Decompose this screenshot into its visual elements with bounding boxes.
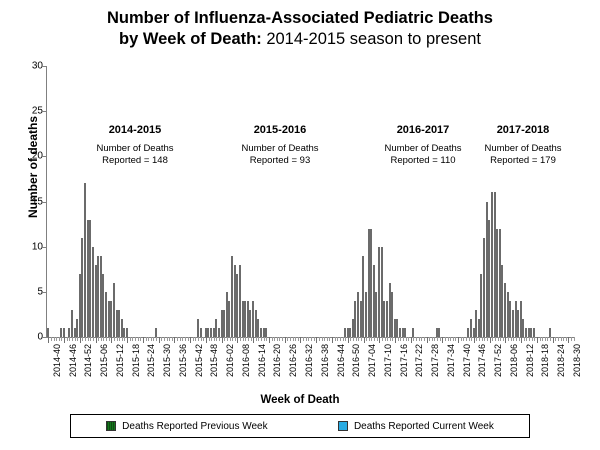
x-axis-major-tick	[364, 337, 365, 343]
x-axis-minor-tick	[156, 337, 157, 341]
x-axis-tick-label: 2017-04	[367, 344, 377, 377]
x-axis-minor-tick	[314, 337, 315, 341]
x-axis-minor-tick	[180, 337, 181, 341]
x-axis-minor-tick	[350, 337, 351, 341]
legend-swatch-previous-week-icon	[106, 421, 116, 431]
x-axis-minor-tick	[469, 337, 470, 341]
x-axis-minor-tick	[266, 337, 267, 341]
x-axis-tick-label: 2018-12	[525, 344, 535, 377]
x-axis-minor-tick	[219, 337, 220, 341]
x-axis-minor-tick	[214, 337, 215, 341]
x-axis-minor-tick	[245, 337, 246, 341]
x-axis-tick-label: 2016-08	[241, 344, 251, 377]
x-axis-minor-tick	[571, 337, 572, 341]
x-axis-minor-tick	[366, 337, 367, 341]
season-deaths-line-1: Number of Deaths	[205, 143, 355, 155]
bar-series	[47, 66, 575, 337]
x-axis-minor-tick	[377, 337, 378, 341]
x-axis-minor-tick	[500, 337, 501, 341]
x-axis-minor-tick	[524, 337, 525, 341]
x-axis-major-tick	[285, 337, 286, 343]
x-axis-minor-tick	[232, 337, 233, 341]
y-axis-title: Number of deaths	[26, 87, 40, 247]
x-axis-minor-tick	[511, 337, 512, 341]
season-annotation-2017-2018: 2017-2018 Number of Deaths Reported = 17…	[448, 124, 598, 167]
x-axis-minor-tick	[161, 337, 162, 341]
x-axis-major-tick	[253, 337, 254, 343]
x-axis-major-tick	[505, 337, 506, 343]
x-axis-minor-tick	[492, 337, 493, 341]
season-deaths-line-2: Reported = 148	[60, 155, 210, 167]
x-axis-major-tick	[537, 337, 538, 343]
x-axis-minor-tick	[106, 337, 107, 341]
x-axis-tick-label: 2018-06	[509, 344, 519, 377]
x-axis-tick-labels: 2014-402014-462014-522015-062015-122015-…	[47, 344, 575, 394]
x-axis-minor-tick	[550, 337, 551, 341]
x-axis-major-tick	[96, 337, 97, 343]
x-axis-minor-tick	[448, 337, 449, 341]
x-axis-minor-tick	[329, 337, 330, 341]
x-axis-minor-tick	[440, 337, 441, 341]
x-axis-major-tick	[80, 337, 81, 343]
x-axis-minor-tick	[203, 337, 204, 341]
x-axis-minor-tick	[140, 337, 141, 341]
x-axis-minor-tick	[261, 337, 262, 341]
x-axis-minor-tick	[566, 337, 567, 341]
x-axis-minor-tick	[413, 337, 414, 341]
x-axis-minor-tick	[471, 337, 472, 341]
x-axis-minor-tick	[193, 337, 194, 341]
x-axis-minor-tick	[85, 337, 86, 341]
x-axis-major-tick	[222, 337, 223, 343]
x-axis-minor-tick	[487, 337, 488, 341]
x-axis-minor-tick	[277, 337, 278, 341]
x-axis-minor-tick	[172, 337, 173, 341]
x-axis-minor-tick	[69, 337, 70, 341]
x-axis-minor-tick	[479, 337, 480, 341]
x-axis-minor-tick	[419, 337, 420, 341]
legend-item-previous-week[interactable]: Deaths Reported Previous Week	[106, 421, 267, 432]
x-axis-minor-tick	[327, 337, 328, 341]
x-axis-major-tick	[553, 337, 554, 343]
x-axis-minor-tick	[308, 337, 309, 341]
x-axis-minor-tick	[563, 337, 564, 341]
x-axis-minor-tick	[151, 337, 152, 341]
x-axis-minor-tick	[293, 337, 294, 341]
x-axis-tick-label: 2015-48	[209, 344, 219, 377]
x-axis-major-tick	[348, 337, 349, 343]
x-axis-minor-tick	[532, 337, 533, 341]
x-axis-tick-label: 2016-44	[336, 344, 346, 377]
influenza-pediatric-deaths-chart: Number of Influenza-Associated Pediatric…	[0, 0, 600, 450]
x-axis-major-tick	[300, 337, 301, 343]
x-axis-minor-tick	[503, 337, 504, 341]
x-axis-minor-tick	[534, 337, 535, 341]
x-axis-minor-tick	[461, 337, 462, 341]
x-axis-minor-tick	[146, 337, 147, 341]
x-axis-minor-tick	[256, 337, 257, 341]
x-axis-major-tick	[395, 337, 396, 343]
chart-title-line-1: Number of Influenza-Associated Pediatric…	[0, 8, 600, 29]
x-axis-minor-tick	[235, 337, 236, 341]
x-axis-tick-label: 2016-14	[257, 344, 267, 377]
x-axis-minor-tick	[353, 337, 354, 341]
x-axis-minor-tick	[434, 337, 435, 341]
x-axis-minor-tick	[185, 337, 186, 341]
x-axis-minor-tick	[450, 337, 451, 341]
x-axis-minor-tick	[72, 337, 73, 341]
x-axis-minor-tick	[177, 337, 178, 341]
x-axis-major-tick	[379, 337, 380, 343]
x-axis-minor-tick	[109, 337, 110, 341]
x-axis-minor-tick	[209, 337, 210, 341]
x-axis-minor-tick	[508, 337, 509, 341]
x-axis-tick-label: 2018-18	[540, 344, 550, 377]
x-axis-minor-tick	[82, 337, 83, 341]
x-axis-tick-label: 2016-50	[351, 344, 361, 377]
x-axis-minor-tick	[495, 337, 496, 341]
x-axis-minor-tick	[98, 337, 99, 341]
x-axis-major-tick	[64, 337, 65, 343]
x-axis-minor-tick	[290, 337, 291, 341]
x-axis-tick-label: 2015-06	[99, 344, 109, 377]
legend-label-previous-week: Deaths Reported Previous Week	[122, 421, 267, 432]
x-axis-minor-tick	[103, 337, 104, 341]
x-axis-tick-label: 2015-18	[131, 344, 141, 377]
x-axis-minor-tick	[453, 337, 454, 341]
legend-swatch-current-week-icon	[338, 421, 348, 431]
legend-label-current-week: Deaths Reported Current Week	[354, 421, 494, 432]
x-axis-minor-tick	[358, 337, 359, 341]
x-axis-minor-tick	[371, 337, 372, 341]
x-axis-minor-tick	[385, 337, 386, 341]
season-annotation-2014-2015: 2014-2015 Number of Deaths Reported = 14…	[60, 124, 210, 167]
x-axis-tick-label: 2017-22	[414, 344, 424, 377]
x-axis-minor-tick	[114, 337, 115, 341]
x-axis-major-tick	[442, 337, 443, 343]
x-axis-minor-tick	[361, 337, 362, 341]
x-axis-minor-tick	[56, 337, 57, 341]
x-axis-minor-tick	[542, 337, 543, 341]
x-axis-minor-tick	[519, 337, 520, 341]
x-axis-major-tick	[458, 337, 459, 343]
x-axis-minor-tick	[119, 337, 120, 341]
x-axis-minor-tick	[526, 337, 527, 341]
x-axis-minor-tick	[240, 337, 241, 341]
x-axis-major-tick	[190, 337, 191, 343]
x-axis-minor-tick	[322, 337, 323, 341]
x-axis-major-tick	[206, 337, 207, 343]
x-axis-minor-tick	[547, 337, 548, 341]
x-axis-tick-label: 2018-24	[556, 344, 566, 377]
x-axis-minor-tick	[282, 337, 283, 341]
x-axis-minor-tick	[437, 337, 438, 341]
x-axis-minor-tick	[59, 337, 60, 341]
season-deaths-line-2: Reported = 93	[205, 155, 355, 167]
x-axis-minor-tick	[167, 337, 168, 341]
chart-title-line-2-bold: by Week of Death:	[119, 30, 262, 48]
x-axis-major-tick	[474, 337, 475, 343]
x-axis-ticks	[47, 337, 575, 343]
x-axis-minor-tick	[343, 337, 344, 341]
chart-title-line-2: by Week of Death: 2014-2015 season to pr…	[0, 29, 600, 50]
x-axis-major-tick	[174, 337, 175, 343]
x-axis-tick-label: 2014-40	[52, 344, 62, 377]
x-axis-minor-tick	[188, 337, 189, 341]
x-axis-minor-tick	[403, 337, 404, 341]
x-axis-minor-tick	[498, 337, 499, 341]
x-axis-tick-label: 2014-46	[68, 344, 78, 377]
x-axis-minor-tick	[243, 337, 244, 341]
x-axis-minor-tick	[75, 337, 76, 341]
season-name: 2015-2016	[205, 124, 355, 138]
x-axis-minor-tick	[513, 337, 514, 341]
x-axis-minor-tick	[198, 337, 199, 341]
x-axis-minor-tick	[130, 337, 131, 341]
x-axis-minor-tick	[227, 337, 228, 341]
x-axis-minor-tick	[421, 337, 422, 341]
x-axis-minor-tick	[463, 337, 464, 341]
x-axis-minor-tick	[224, 337, 225, 341]
x-axis-minor-tick	[211, 337, 212, 341]
x-axis-minor-tick	[182, 337, 183, 341]
x-axis-major-tick	[159, 337, 160, 343]
x-axis-tick-label: 2017-16	[399, 344, 409, 377]
x-axis-minor-tick	[122, 337, 123, 341]
chart-legend: Deaths Reported Previous Week Deaths Rep…	[70, 414, 530, 438]
season-deaths-line-1: Number of Deaths	[448, 143, 598, 155]
x-axis-tick-label: 2017-52	[493, 344, 503, 377]
x-axis-minor-tick	[516, 337, 517, 341]
x-axis-minor-tick	[67, 337, 68, 341]
x-axis-tick-label: 2014-52	[83, 344, 93, 377]
x-axis-minor-tick	[88, 337, 89, 341]
x-axis-minor-tick	[230, 337, 231, 341]
x-axis-minor-tick	[476, 337, 477, 341]
x-axis-minor-tick	[274, 337, 275, 341]
x-axis-minor-tick	[93, 337, 94, 341]
x-axis-minor-tick	[484, 337, 485, 341]
x-axis-tick-label: 2017-34	[446, 344, 456, 377]
legend-item-current-week[interactable]: Deaths Reported Current Week	[338, 421, 494, 432]
x-axis-tick-label: 2017-46	[477, 344, 487, 377]
x-axis-tick-label: 2016-32	[304, 344, 314, 377]
x-axis-minor-tick	[90, 337, 91, 341]
x-axis-minor-tick	[132, 337, 133, 341]
x-axis-tick-label: 2017-40	[462, 344, 472, 377]
x-axis-tick-label: 2016-02	[225, 344, 235, 377]
x-axis-minor-tick	[258, 337, 259, 341]
x-axis-minor-tick	[356, 337, 357, 341]
x-axis-minor-tick	[216, 337, 217, 341]
x-axis-minor-tick	[135, 337, 136, 341]
x-axis-minor-tick	[51, 337, 52, 341]
x-axis-minor-tick	[169, 337, 170, 341]
x-axis-minor-tick	[264, 337, 265, 341]
x-axis-minor-tick	[153, 337, 154, 341]
x-axis-minor-tick	[77, 337, 78, 341]
season-annotation-2015-2016: 2015-2016 Number of Deaths Reported = 93	[205, 124, 355, 167]
season-name: 2014-2015	[60, 124, 210, 138]
x-axis-minor-tick	[148, 337, 149, 341]
x-axis-minor-tick	[390, 337, 391, 341]
x-axis-minor-tick	[340, 337, 341, 341]
x-axis-minor-tick	[432, 337, 433, 341]
x-axis-major-tick	[111, 337, 112, 343]
x-axis-minor-tick	[117, 337, 118, 341]
season-deaths-line-1: Number of Deaths	[60, 143, 210, 155]
x-axis-minor-tick	[540, 337, 541, 341]
x-axis-major-tick	[427, 337, 428, 343]
chart-title-line-1-text: Number of Influenza-Associated Pediatric…	[107, 9, 493, 27]
x-axis-minor-tick	[555, 337, 556, 341]
x-axis-minor-tick	[201, 337, 202, 341]
x-axis-minor-tick	[424, 337, 425, 341]
x-axis-tick-label: 2015-42	[194, 344, 204, 377]
x-axis-major-tick	[269, 337, 270, 343]
season-name: 2017-2018	[448, 124, 598, 138]
bar-slot	[572, 66, 575, 337]
x-axis-minor-tick	[54, 337, 55, 341]
x-axis-major-tick	[48, 337, 49, 343]
x-axis-minor-tick	[545, 337, 546, 341]
x-axis-minor-tick	[311, 337, 312, 341]
x-axis-minor-tick	[466, 337, 467, 341]
x-axis-minor-tick	[400, 337, 401, 341]
x-axis-tick-label: 2016-20	[272, 344, 282, 377]
x-axis-tick-label: 2015-12	[115, 344, 125, 377]
chart-title: Number of Influenza-Associated Pediatric…	[0, 8, 600, 50]
x-axis-minor-tick	[164, 337, 165, 341]
x-axis-tick-label: 2015-24	[146, 344, 156, 377]
x-axis-major-tick	[237, 337, 238, 343]
x-axis-major-tick	[316, 337, 317, 343]
x-axis-major-tick	[332, 337, 333, 343]
x-axis-minor-tick	[429, 337, 430, 341]
x-axis-minor-tick	[295, 337, 296, 341]
x-axis-minor-tick	[408, 337, 409, 341]
x-axis-minor-tick	[398, 337, 399, 341]
x-axis-tick-label: 2017-28	[430, 344, 440, 377]
x-axis-minor-tick	[324, 337, 325, 341]
x-axis-title: Week of Death	[0, 394, 600, 406]
x-axis-minor-tick	[138, 337, 139, 341]
x-axis-minor-tick	[303, 337, 304, 341]
x-axis-major-tick	[127, 337, 128, 343]
x-axis-minor-tick	[416, 337, 417, 341]
x-axis-minor-tick	[287, 337, 288, 341]
x-axis-minor-tick	[387, 337, 388, 341]
x-axis-minor-tick	[445, 337, 446, 341]
x-axis-minor-tick	[482, 337, 483, 341]
x-axis-tick-label: 2017-10	[383, 344, 393, 377]
x-axis-minor-tick	[319, 337, 320, 341]
x-axis-minor-tick	[279, 337, 280, 341]
x-axis-minor-tick	[574, 337, 575, 341]
chart-title-line-2-normal: 2014-2015 season to present	[262, 30, 481, 48]
x-axis-major-tick	[411, 337, 412, 343]
x-axis-minor-tick	[306, 337, 307, 341]
x-axis-minor-tick	[369, 337, 370, 341]
x-axis-major-tick	[568, 337, 569, 343]
x-axis-minor-tick	[561, 337, 562, 341]
x-axis-minor-tick	[392, 337, 393, 341]
season-deaths-line-2: Reported = 179	[448, 155, 598, 167]
x-axis-minor-tick	[272, 337, 273, 341]
x-axis-minor-tick	[455, 337, 456, 341]
x-axis-minor-tick	[251, 337, 252, 341]
x-axis-major-tick	[143, 337, 144, 343]
x-axis-major-tick	[490, 337, 491, 343]
x-axis-minor-tick	[195, 337, 196, 341]
x-axis-tick-label: 2018-30	[572, 344, 582, 377]
x-axis-minor-tick	[298, 337, 299, 341]
x-axis-tick-label: 2016-38	[320, 344, 330, 377]
x-axis-minor-tick	[382, 337, 383, 341]
x-axis-minor-tick	[248, 337, 249, 341]
x-axis-minor-tick	[101, 337, 102, 341]
x-axis-minor-tick	[374, 337, 375, 341]
x-axis-major-tick	[521, 337, 522, 343]
x-axis-minor-tick	[529, 337, 530, 341]
x-axis-minor-tick	[335, 337, 336, 341]
x-axis-minor-tick	[124, 337, 125, 341]
x-axis-minor-tick	[61, 337, 62, 341]
x-axis-minor-tick	[558, 337, 559, 341]
x-axis-minor-tick	[345, 337, 346, 341]
x-axis-tick-label: 2016-26	[288, 344, 298, 377]
x-axis-tick-label: 2015-36	[178, 344, 188, 377]
x-axis-minor-tick	[337, 337, 338, 341]
x-axis-tick-label: 2015-30	[162, 344, 172, 377]
x-axis-minor-tick	[406, 337, 407, 341]
